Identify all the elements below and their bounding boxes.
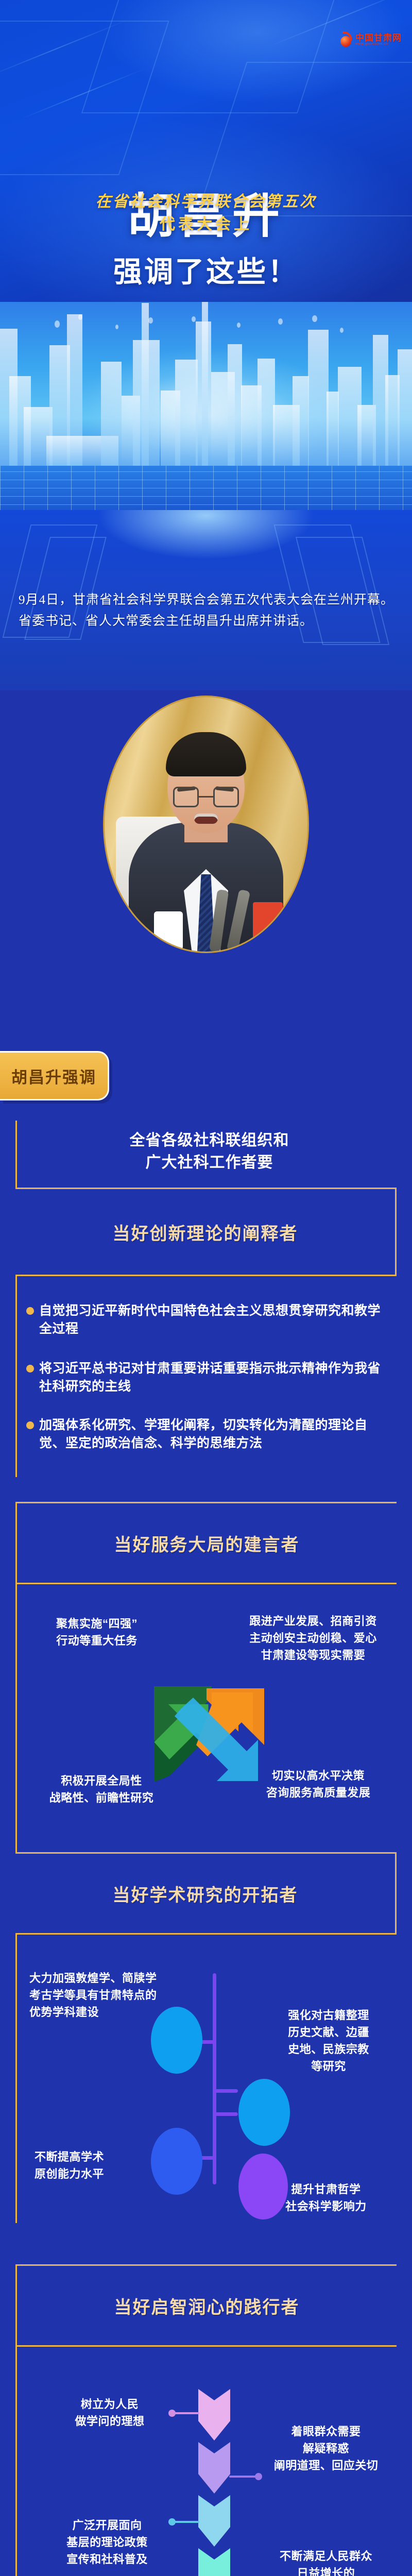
node-ellipse	[238, 2079, 290, 2146]
gscn-logo-icon	[339, 32, 353, 47]
lead-statement-line1: 全省各级社科联组织和	[32, 1130, 386, 1152]
section-title-4: 当好启智润心的践行者	[114, 2293, 300, 2318]
bullet-text: 加强体系化研究、学理化阐释，切实转化为清醒的理论自觉、坚定的政治信念、科学的思维…	[39, 1416, 382, 1452]
bullet-dot-icon	[26, 1421, 34, 1429]
gscn-logo-text: 中国甘肃网	[355, 33, 402, 43]
bullet-text: 自觉把习近平新时代中国特色社会主义思想贯穿研究和教学全过程	[39, 1302, 382, 1338]
bullet-dot-icon	[26, 1307, 34, 1315]
bullet-item: 加强体系化研究、学理化阐释，切实转化为清醒的理论自觉、坚定的政治信念、科学的思维…	[26, 1416, 382, 1452]
tree-arm	[214, 2089, 238, 2093]
section-header-2: 当好服务大局的建言者	[15, 1502, 397, 1584]
speaker-badge-label: 胡昌升强调	[11, 1064, 96, 1088]
chevron-step-3	[198, 2495, 230, 2547]
section-title-1: 当好创新理论的阐释者	[113, 1219, 298, 1245]
lead-statement: 全省各级社科联组织和 广大社科工作者要	[15, 1121, 397, 1188]
section-body-1: 自觉把习近平新时代中国特色社会主义思想贯穿研究和教学全过程 将习近平总书记对甘肃…	[15, 1276, 397, 1477]
diagram-label-left-top: 树立为人民 做学问的理想	[48, 2396, 171, 2430]
bullet-dot-icon	[26, 1365, 34, 1372]
chevron-step-1	[198, 2389, 230, 2441]
intro-section: 9月4日，甘肃省社会科学界联合会第五次代表大会在兰州开幕。省委书记、省人大常委会…	[0, 510, 412, 690]
gscn-logo-url: www.gscn.com.cn	[355, 42, 402, 46]
section-body-2: 聚焦实施“四强” 行动等重大任务 跟进产业发展、招商引资 主动创安主动创稳、爱心…	[15, 1584, 397, 1852]
hero-subtitle-line1: 在省社会科学界联合会第五次	[0, 191, 412, 213]
hero-emphasis: 强调了这些！	[0, 249, 412, 291]
speaker-portrait-photo	[103, 696, 309, 953]
tree-arm	[214, 2112, 238, 2116]
diagram-label-top-right: 跟进产业发展、招商引资 主动创安主动创稳、爱心 甘肃建设等现实需要	[244, 1613, 383, 1664]
infographic-page: 中国甘肃网 www.gscn.com.cn 胡昌升 在省社会科学界联合会第五次 …	[0, 0, 412, 2576]
connector-line	[173, 2521, 199, 2523]
bullet-text: 将习近平总书记对甘肃重要讲话重要指示批示精神作为我省社科研究的主线	[39, 1360, 382, 1396]
diagram-label-bottom-left: 积极开展全局性 战略性、前瞻性研究	[29, 1772, 174, 1806]
hero-banner: 中国甘肃网 www.gscn.com.cn 胡昌升 在省社会科学界联合会第五次 …	[0, 0, 412, 314]
section-title-2: 当好服务大局的建言者	[114, 1531, 300, 1556]
lead-statement-line2: 广大社科工作者要	[32, 1152, 386, 1174]
hero-subtitle-line2: 代表大会上	[0, 213, 412, 236]
portrait-section	[0, 690, 412, 963]
section-header-1: 当好创新理论的阐释者	[15, 1188, 397, 1276]
diagram-label-top-left: 聚焦实施“四强” 行动等重大任务	[32, 1615, 161, 1649]
diagram-label-left-bottom: 不断提高学术 原创能力水平	[35, 2148, 179, 2182]
speaker-badge: 胡昌升强调	[0, 1051, 109, 1100]
section-body-3: 大力加强敦煌学、简牍学 考古学等具有甘肃特点的 优势学科建设 强化对古籍整理 历…	[15, 1935, 397, 2223]
diagram-label-right-bottom: 不断满足人民群众 日益增长的 精神文化需求	[259, 2548, 393, 2576]
diagram-label-left-top: 大力加强敦煌学、简牍学 考古学等具有甘肃特点的 优势学科建设	[29, 1970, 199, 2021]
diagram-label-right-top: 着眼群众需要 解疑释惑 阐明道理、回应关切	[259, 2423, 393, 2474]
connector-dot	[255, 2473, 262, 2480]
city-skyline-illustration	[0, 302, 412, 513]
hero-subtitle: 在省社会科学界联合会第五次 代表大会上	[0, 191, 412, 235]
section-header-4: 当好启智润心的践行者	[15, 2264, 397, 2347]
diagram-label-right-top: 强化对古籍整理 历史文献、边疆 史地、民族宗教 等研究	[269, 2007, 388, 2075]
connector-line	[173, 2412, 199, 2414]
bullet-item: 自觉把习近平新时代中国特色社会主义思想贯穿研究和教学全过程	[26, 1302, 382, 1338]
tree-spine	[213, 1973, 216, 2184]
chevron-step-2	[198, 2442, 230, 2494]
connector-line	[229, 2476, 258, 2478]
diagram-label-bottom-right: 切实以高水平决策 咨询服务高质量发展	[254, 1767, 383, 1801]
section-body-4: 树立为人民 做学问的理想 着眼群众需要 解疑释惑 阐明道理、回应关切 广泛开展面…	[15, 2347, 397, 2576]
node-ellipse	[238, 2154, 288, 2219]
section-title-3: 当好学术研究的开拓者	[113, 1881, 298, 1906]
gscn-logo[interactable]: 中国甘肃网 www.gscn.com.cn	[339, 32, 402, 47]
intro-paragraph: 9月4日，甘肃省社会科学界联合会第五次代表大会在兰州开幕。省委书记、省人大常委会…	[19, 590, 397, 632]
chevron-step-4	[198, 2548, 230, 2576]
diagram-label-left-bottom: 广泛开展面向 基层的理论政策 宣传和社科普及	[43, 2517, 171, 2568]
city-grid-floor	[0, 466, 412, 513]
section-header-3: 当好学术研究的开拓者	[15, 1852, 397, 1935]
bullet-item: 将习近平总书记对甘肃重要讲话重要指示批示精神作为我省社科研究的主线	[26, 1360, 382, 1396]
